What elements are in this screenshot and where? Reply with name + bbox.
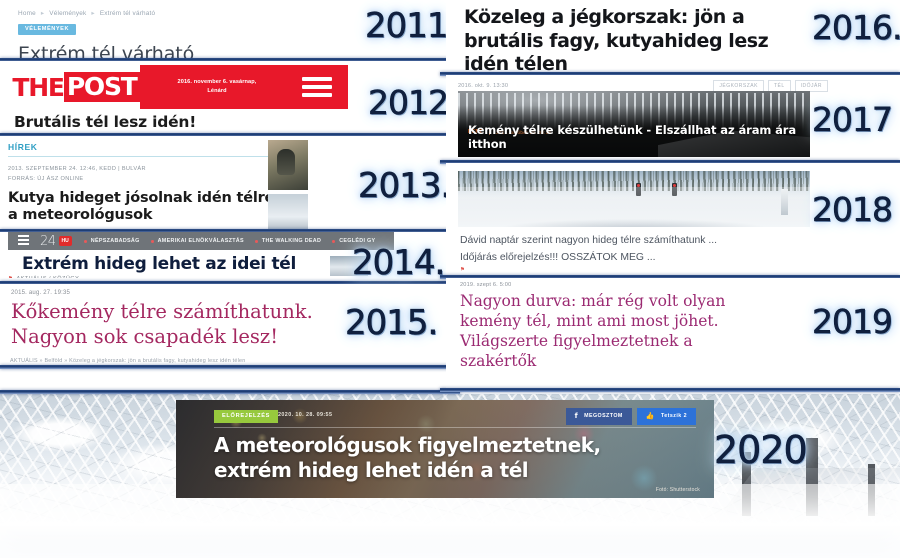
flag-icon: ⚑	[8, 276, 13, 278]
thumbnail-snow-photo[interactable]	[268, 194, 308, 232]
nav-item-2[interactable]: THE WALKING DEAD	[255, 238, 321, 244]
masthead-date-line2: Lénárd	[148, 87, 286, 96]
year-label-2016: 2016.	[812, 8, 900, 47]
year-label-2011: 2011.	[365, 6, 457, 46]
panel-divider	[0, 365, 460, 369]
breadcrumb-home[interactable]: Home	[18, 10, 36, 17]
headline-2017: Kemény télre készülhetünk - Elszállhat a…	[468, 123, 810, 151]
share-label: MEGOSZTOM	[584, 413, 623, 419]
section-label-hirek[interactable]: HÍREK	[8, 142, 460, 152]
year-label-2013: 2013.	[358, 166, 450, 206]
flag-icon: ⚑	[460, 267, 465, 273]
thumbnail-soldier-photo[interactable]	[268, 140, 308, 190]
facebook-f-icon: f	[575, 412, 579, 420]
masthead-date-line1: 2016. november 6. vasárnap,	[148, 78, 286, 87]
year-label-2012: 2012.	[368, 83, 457, 122]
category-breadcrumb-2019: ⚑	[460, 267, 465, 273]
like-label: Tetszik 2	[661, 413, 687, 419]
headline-2013: Kutya hideget jósolnak idén télre a mete…	[8, 190, 278, 225]
year-label-2017: 2017	[812, 100, 892, 139]
facebook-like-button[interactable]: 👍 Tetszik 2	[637, 408, 696, 425]
breadcrumb-2016: AKTUÁLIS » Belföld » Közeleg a jégkorsza…	[10, 358, 245, 364]
headline-2016: Közeleg a jégkorszak: jön a brutális fag…	[464, 6, 794, 72]
facebook-share-button[interactable]: f MEGOSZTOM	[566, 408, 632, 425]
panel-divider	[440, 388, 900, 392]
headline-2020: A meteorológusok figyelmeztetnek, extrém…	[214, 433, 644, 483]
year-label-2019: 2019	[812, 302, 892, 341]
article-date-2015: 2015. aug. 27. 19:35	[11, 290, 460, 296]
photo-credit: Fotó: Shutterstock	[656, 487, 700, 493]
nav-item-0[interactable]: NÉPSZABADSÁG	[84, 238, 140, 244]
post-text-line1: Dávid naptár szerint nagyon hideg télre …	[460, 233, 717, 250]
category-badge-velemenyek[interactable]: VÉLEMÉNYEK	[18, 24, 76, 35]
year-label-2018: 2018	[812, 190, 892, 229]
post-text-line2: Időjárás előrejelzés!!! OSSZÁTOK MEG ...	[460, 250, 717, 267]
nav-item-1[interactable]: AMERIKAI ELNÖKVÁLASZTÁS	[151, 238, 244, 244]
masthead-date: 2016. november 6. vasárnap, Lénárd	[148, 78, 286, 95]
headline-2019: Nagyon durva: már rég volt olyan kemény …	[460, 291, 760, 372]
breadcrumb-section[interactable]: Vélemények	[49, 10, 86, 17]
hamburger-menu-icon[interactable]	[18, 235, 29, 247]
article-photo-snowy-road[interactable]	[458, 171, 810, 227]
breadcrumb-separator-icon: ▸	[38, 10, 47, 17]
social-share-buttons: f MEGOSZTOM 👍 Tetszik 2	[566, 408, 696, 425]
collage-canvas: Home ▸ Vélemények ▸ Extrém tél várható V…	[0, 0, 900, 558]
article-date-2020: 2020. 10. 28. 09:55	[278, 412, 332, 418]
logo-the-text: THE	[12, 73, 63, 102]
panel-divider	[0, 390, 460, 394]
hamburger-menu-icon[interactable]	[302, 77, 332, 101]
site-navbar-24hu: 24 HU NÉPSZABADSÁG AMERIKAI ELNÖKVÁLASZT…	[8, 232, 394, 250]
post-text-2018: Dávid naptár szerint nagyon hideg télre …	[460, 233, 717, 267]
the-post-logo[interactable]: THE POST	[12, 65, 140, 109]
breadcrumb-separator-icon: ▸	[88, 10, 97, 17]
article-date-2016: 2016. okt. 9. 13:30	[458, 83, 508, 89]
breadcrumb-current: Extrém tél várható	[100, 10, 155, 17]
logo-tld-badge: HU	[59, 236, 72, 246]
the-post-masthead: THE POST 2016. november 6. vasárnap, Lén…	[12, 65, 348, 109]
category-badge-elorejelzes[interactable]: ELŐREJELZÉS	[214, 410, 278, 423]
headline-2012: Brutális tél lesz idén!	[14, 113, 196, 131]
article-photo-icicles[interactable]: PÉNZ 2017. október 19. 09:15 Kemény télr…	[458, 91, 810, 157]
year-label-2014: 2014.	[352, 243, 444, 283]
logo-24-text[interactable]: 24	[40, 234, 56, 249]
thumbs-up-icon: 👍	[646, 412, 655, 420]
category-text[interactable]: AKTUÁLIS / KÖZÜGY	[16, 276, 79, 278]
article-date-2019: 2019. szept 6. 5:00	[460, 282, 900, 288]
year-label-2020: 2020	[714, 428, 807, 472]
category-breadcrumb-2014: ⚑AKTUÁLIS / KÖZÜGY	[8, 276, 79, 278]
navbar-links: NÉPSZABADSÁG AMERIKAI ELNÖKVÁLASZTÁS THE…	[84, 238, 376, 244]
year-label-2015: 2015.	[345, 303, 437, 343]
tire-tracks	[458, 187, 810, 227]
logo-post-text: POST	[64, 72, 140, 102]
headline-banner-2020: ELŐREJELZÉS 2020. 10. 28. 09:55 f MEGOSZ…	[176, 400, 714, 498]
headline-2015: Kőkemény télre számíthatunk. Nagyon sok …	[11, 300, 341, 349]
headline-2014: Extrém hideg lehet az idei tél	[22, 254, 296, 274]
masthead-red-bar: 2016. november 6. vasárnap, Lénárd	[140, 65, 348, 109]
section-rule	[8, 156, 293, 157]
banner-rule	[214, 427, 696, 428]
